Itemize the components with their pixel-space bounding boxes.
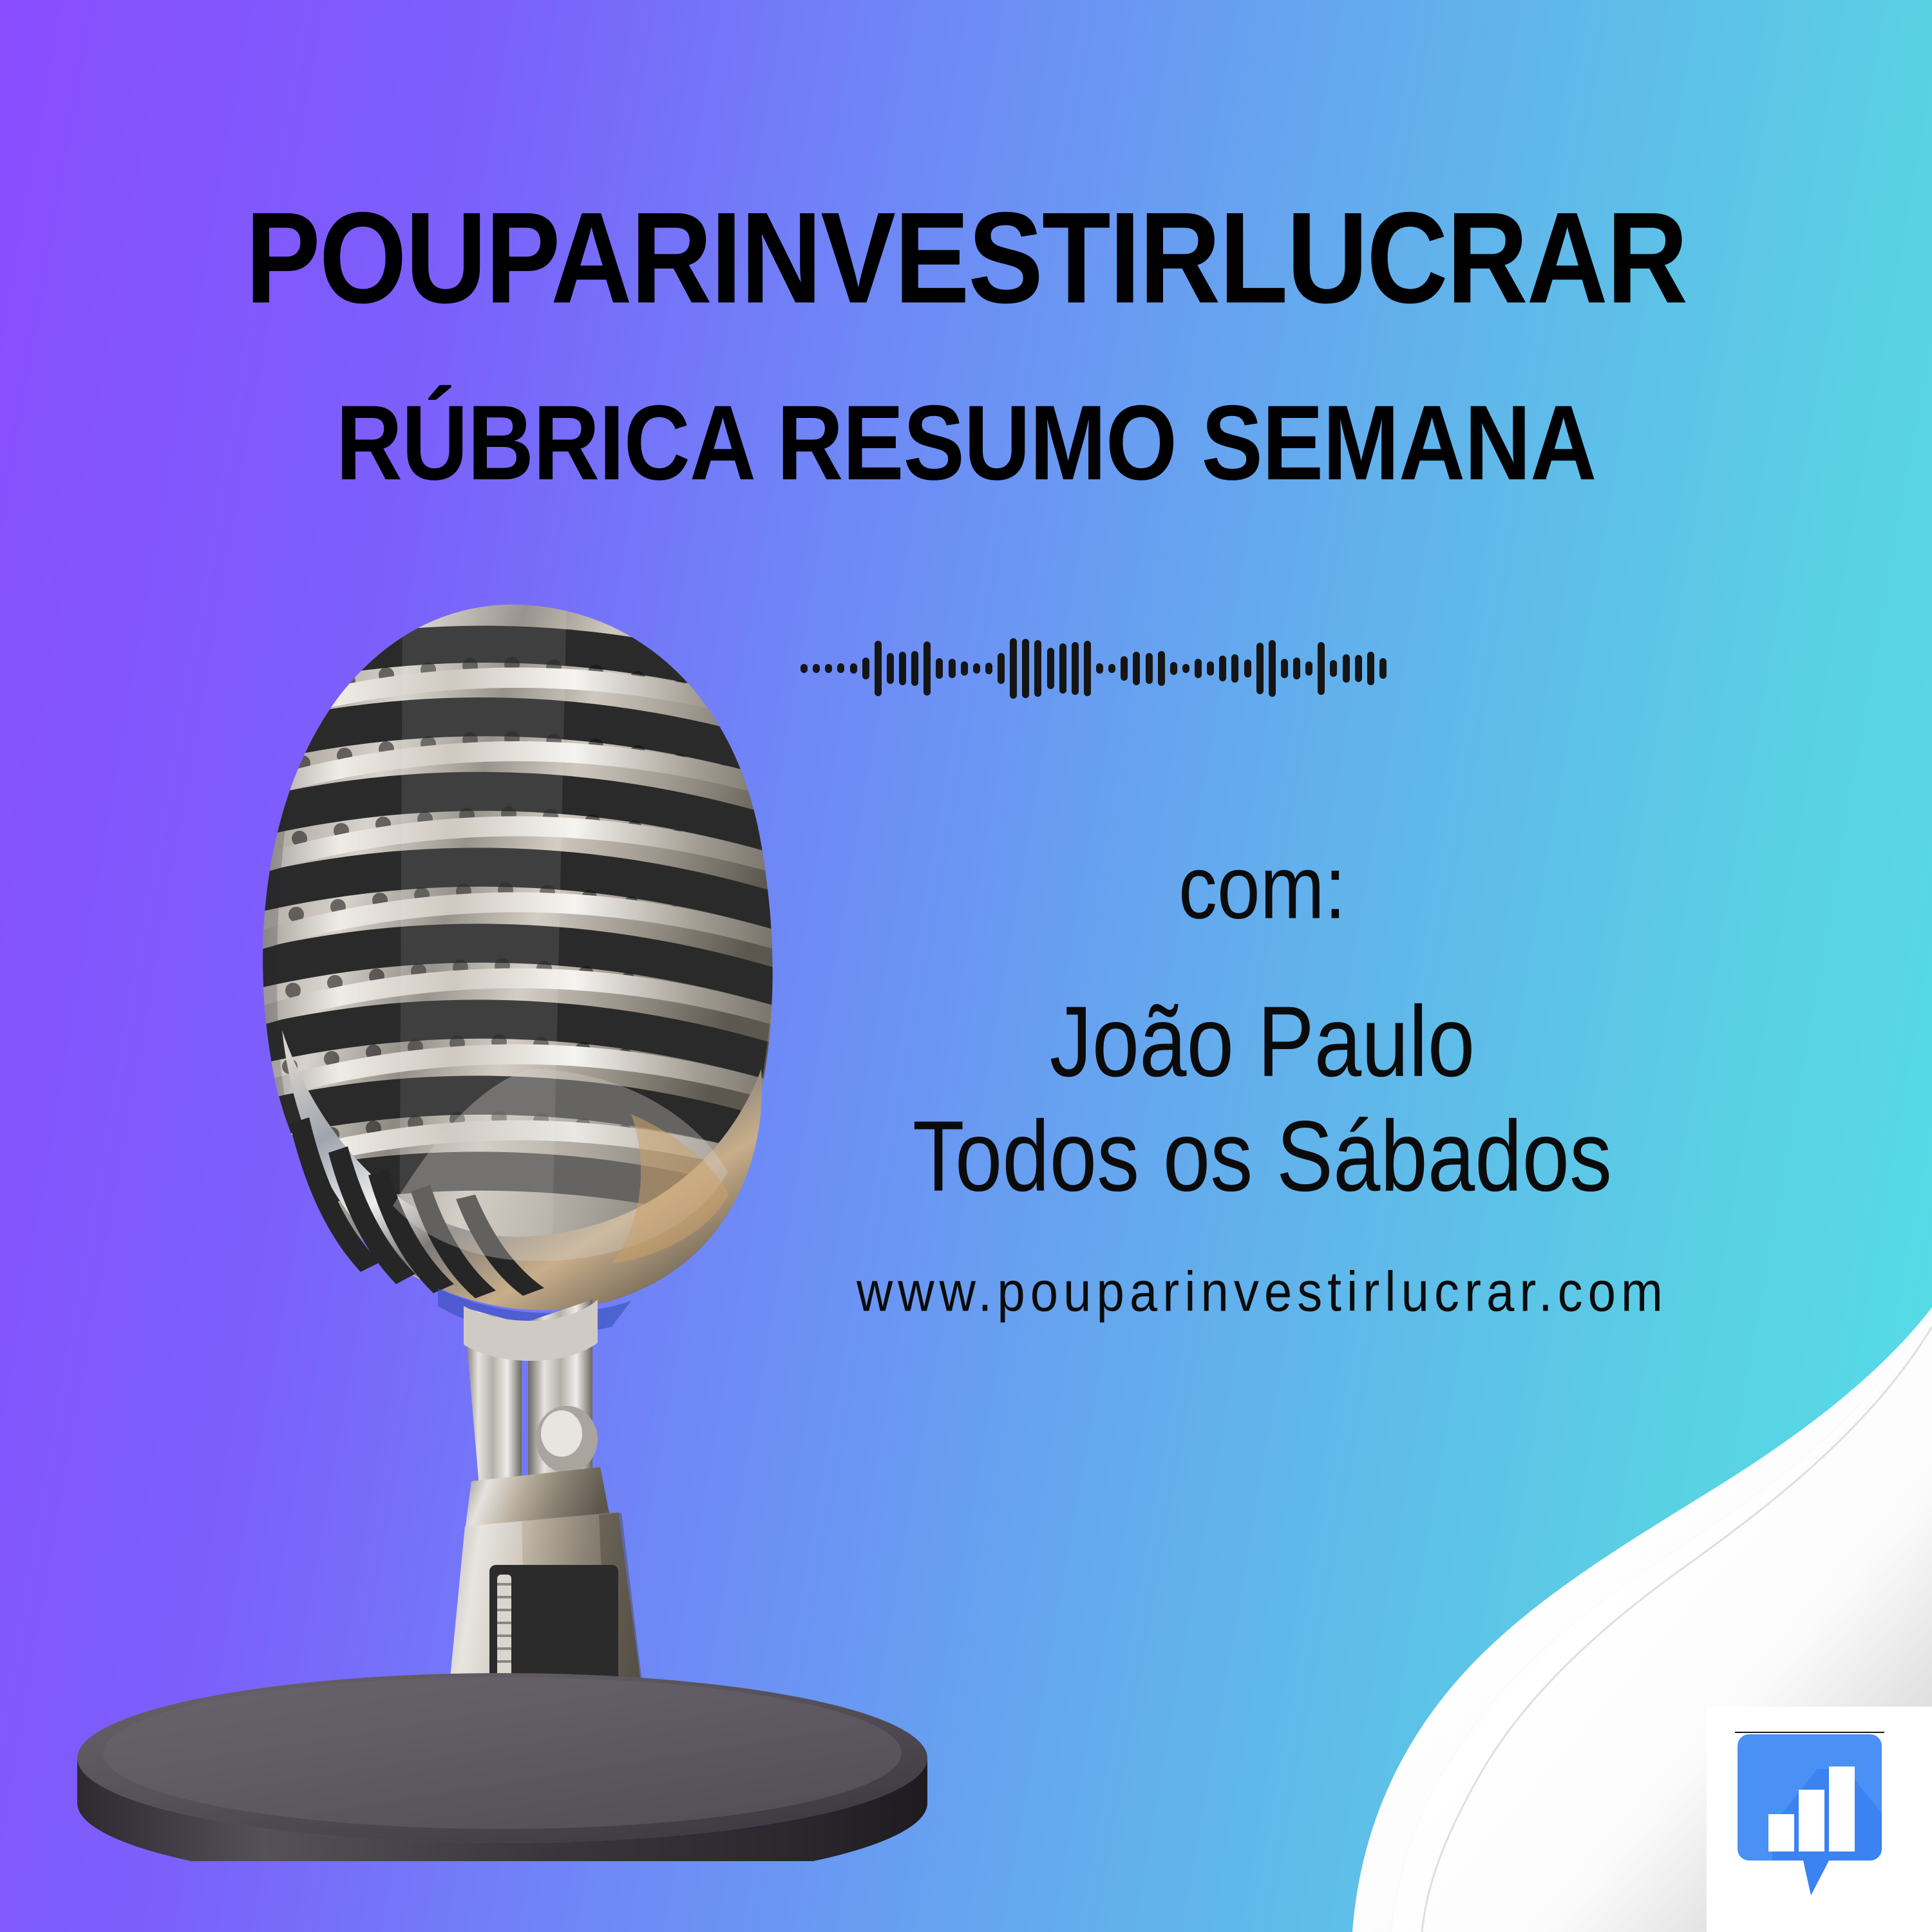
- waveform-bar: [813, 664, 820, 673]
- website-url: www.pouparinvestirlucrar.com: [799, 1259, 1726, 1325]
- with-label: com:: [799, 836, 1726, 939]
- waveform-bar: [1022, 639, 1029, 698]
- waveform-bar: [961, 661, 968, 676]
- waveform-bar: [862, 658, 869, 679]
- waveform-bar: [1379, 658, 1387, 679]
- retro-microphone-illustration: [77, 580, 927, 1861]
- audio-waveform: [800, 634, 1387, 702]
- host-name: João Paulo: [799, 984, 1726, 1099]
- waveform-bar: [887, 653, 894, 684]
- waveform-bar: [837, 663, 844, 673]
- waveform-bar: [1072, 642, 1079, 695]
- waveform-bar: [1034, 640, 1041, 697]
- waveform-bar: [800, 664, 808, 673]
- waveform-bar: [1170, 662, 1177, 675]
- waveform-bar: [973, 663, 980, 674]
- waveform-bar: [1207, 661, 1214, 676]
- waveform-bar: [985, 663, 992, 674]
- waveform-bar: [875, 641, 882, 696]
- waveform-bar: [1231, 654, 1238, 683]
- waveform-bar: [911, 651, 918, 686]
- waveform-bar: [923, 641, 931, 696]
- podcast-poster: POUPARINVESTIRLUCRAR RÚBRICA RESUMO SEMA…: [0, 0, 1932, 1932]
- waveform-bar: [1146, 653, 1153, 684]
- waveform-bar: [1084, 641, 1091, 696]
- waveform-bar: [1343, 654, 1350, 683]
- waveform-bar: [1133, 652, 1140, 685]
- waveform-bar: [1096, 663, 1103, 674]
- page-title: POUPARINVESTIRLUCRAR: [0, 193, 1932, 323]
- waveform-bar: [936, 658, 943, 679]
- waveform-bar: [1269, 640, 1276, 697]
- waveform-bar: [1318, 642, 1325, 695]
- waveform-bar: [1355, 655, 1362, 682]
- waveform-bar: [1010, 638, 1017, 699]
- waveform-bar: [1330, 660, 1337, 677]
- waveform-bar: [1047, 648, 1054, 689]
- bar-chart-speech-bubble-icon: [1735, 1732, 1884, 1895]
- waveform-bar: [949, 659, 956, 678]
- waveform-bar: [899, 652, 906, 685]
- waveform-bar: [998, 653, 1005, 684]
- waveform-bar: [1158, 651, 1165, 686]
- mic-neck: [464, 1300, 612, 1540]
- waveform-bar: [825, 664, 832, 673]
- waveform-bar: [1256, 643, 1264, 694]
- waveform-bar: [1108, 664, 1115, 673]
- brand-logo-panel[interactable]: [1707, 1707, 1932, 1932]
- waveform-bar: [1219, 656, 1226, 681]
- waveform-bar: [1195, 659, 1202, 678]
- waveform-bar: [1305, 661, 1312, 676]
- waveform-bar: [1182, 664, 1189, 673]
- waveform-bar: [1059, 643, 1066, 694]
- title-block: POUPARINVESTIRLUCRAR RÚBRICA RESUMO SEMA…: [0, 193, 1932, 480]
- waveform-bar: [1121, 656, 1128, 681]
- schedule-label: Todos os Sábados: [799, 1099, 1726, 1213]
- waveform-bar: [850, 663, 857, 674]
- waveform-bar: [1244, 659, 1251, 677]
- waveform-bar: [1367, 652, 1374, 685]
- page-subtitle: RÚBRICA RESUMO SEMANA: [0, 390, 1932, 496]
- waveform-bar: [1293, 658, 1300, 679]
- mic-base: [77, 1673, 927, 1861]
- waveform-bar: [1281, 659, 1288, 678]
